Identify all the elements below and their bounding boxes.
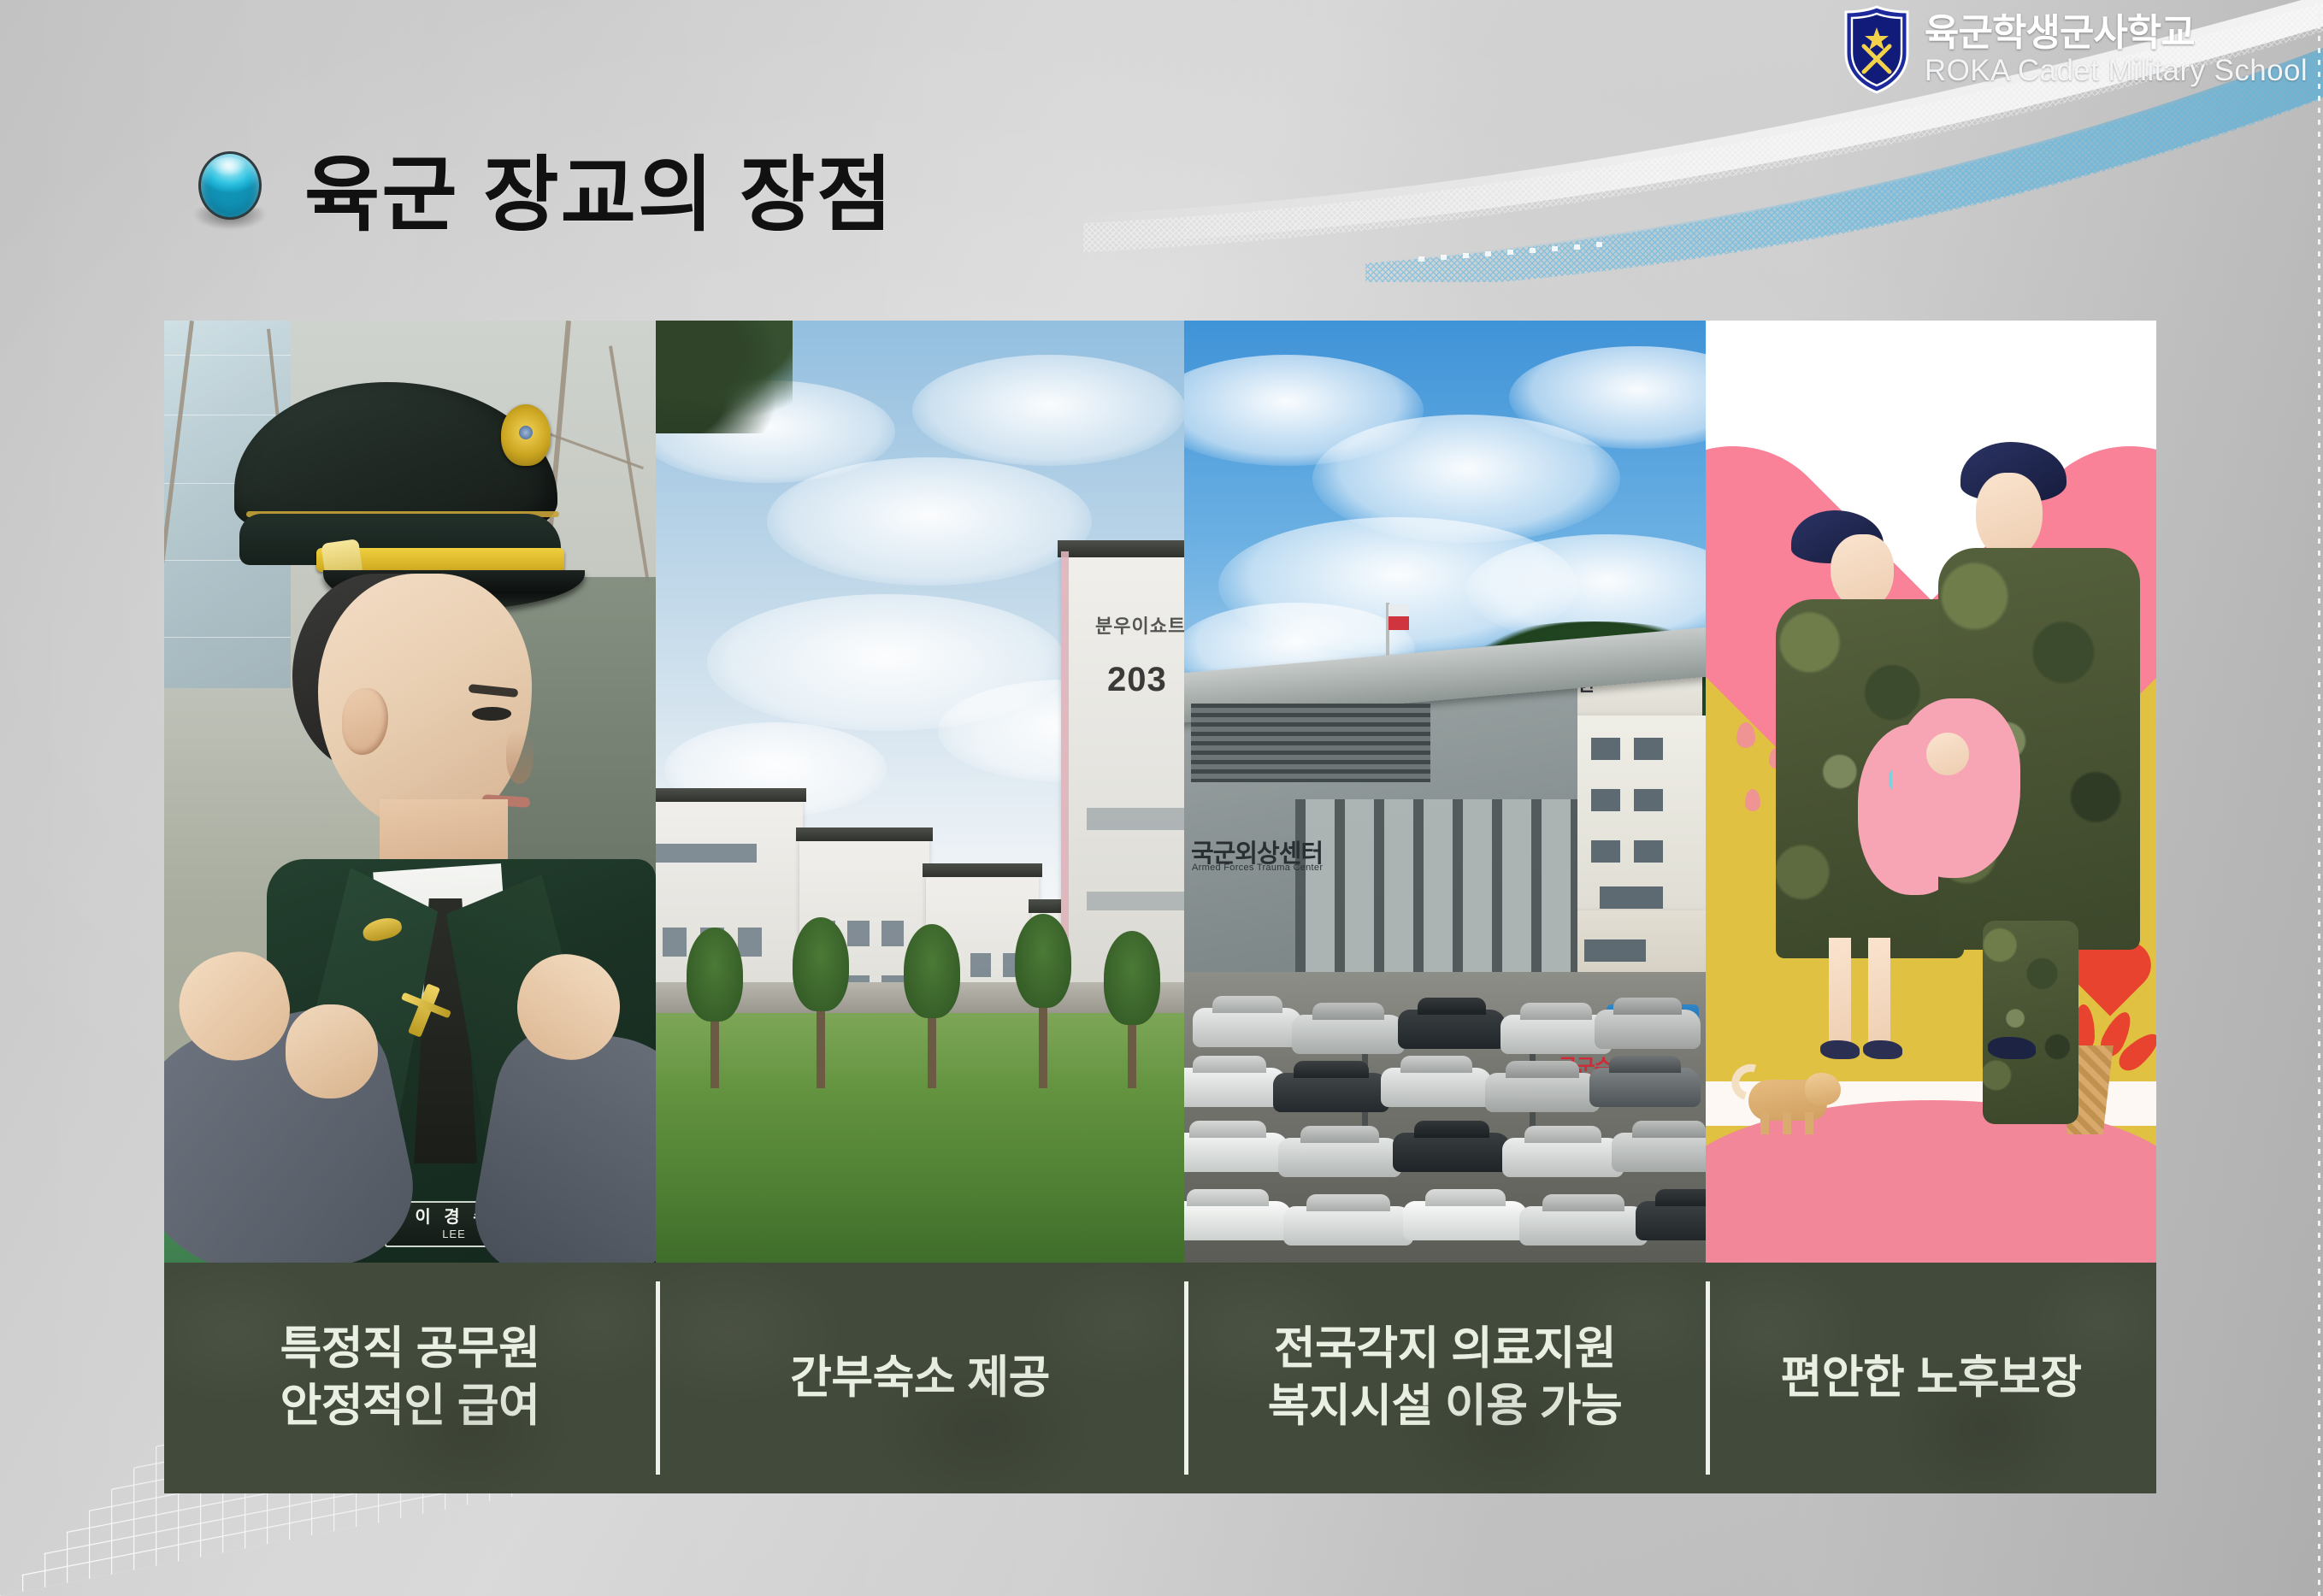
- panel-nationwide-medical[interactable]: 국군수도병원: [1184, 321, 1706, 1493]
- nametag-english: LEE: [442, 1228, 466, 1240]
- panel-officer-housing[interactable]: 203 분우이쇼트 간부숙소 제공: [656, 321, 1184, 1493]
- slide-canvas: 육군학생군사학교 ROKA Cadet Military School 육군 장…: [0, 0, 2323, 1596]
- caption-bar: 전국각지 의료지원 복지시설 이용 가능: [1184, 1263, 1706, 1493]
- figure-man: [1938, 442, 2152, 1160]
- caption-text: 간부숙소 제공: [783, 1350, 1057, 1407]
- page-title: 육군 장교의 장점: [304, 128, 894, 247]
- armed-forces-hospital-photo: 국군수도병원: [1184, 321, 1706, 1263]
- dog-illustration: [1735, 1061, 1837, 1134]
- caption-bar: 편안한 노후보장: [1706, 1263, 2156, 1493]
- caption-bar: 간부숙소 제공: [656, 1263, 1184, 1493]
- cadet-dress-uniform-photo: 이 경 수 LEE: [164, 321, 656, 1263]
- officer-apartment-housing-photo: 203 분우이쇼트: [656, 321, 1184, 1263]
- caption-text: 편안한 노후보장: [1773, 1350, 2088, 1407]
- military-couple-illustration: [1706, 321, 2156, 1263]
- right-edge-dotted-rule: [2318, 0, 2320, 1596]
- panel-comfortable-retirement[interactable]: 편안한 노후보장: [1706, 321, 2156, 1493]
- building-sign: 분우이쇼트: [1095, 611, 1184, 639]
- benefits-photo-strip: 이 경 수 LEE 특정직 공무원 안정적인 급여: [164, 321, 2156, 1493]
- caption-text: 전국각지 의료지원 복지시설 이용 가능: [1261, 1321, 1630, 1435]
- title-row: 육군 장교의 장점: [195, 128, 894, 247]
- logo-korean-name: 육군학생군사학교: [1925, 15, 2308, 52]
- caption-bar: 특정직 공무원 안정적인 급여: [164, 1263, 656, 1493]
- logo-english-name: ROKA Cadet Military School: [1925, 56, 2308, 85]
- trauma-center-english-sign: Armed Forces Trauma Center: [1192, 863, 1323, 873]
- building-number: 203: [1107, 661, 1167, 699]
- caption-text: 특정직 공무원 안정적인 급여: [274, 1321, 547, 1435]
- sphere-bullet-icon: [195, 150, 265, 227]
- roka-shield-crest-icon: [1841, 5, 1913, 94]
- panel-specialized-civil-servant[interactable]: 이 경 수 LEE 특정직 공무원 안정적인 급여: [164, 321, 656, 1493]
- school-logo: 육군학생군사학교 ROKA Cadet Military School: [1841, 5, 2308, 94]
